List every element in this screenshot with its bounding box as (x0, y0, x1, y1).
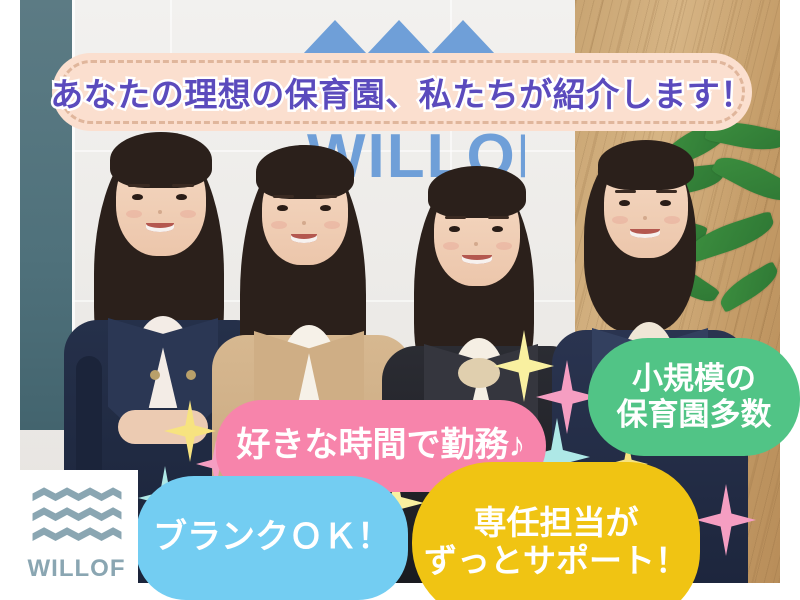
bubble-yellow-line1: 専任担当が (474, 504, 639, 542)
bubble-small-nurseries[interactable]: 小規模の 保育園多数 (588, 338, 800, 456)
willof-wordmark: WILLOF (28, 555, 126, 583)
bubble-pink-text: 好きな時間で勤務♪ (237, 426, 526, 465)
bubble-yellow-line2: ずっとサポート！ (424, 542, 688, 580)
bubble-blue-text: ブランクＯＫ！ (153, 518, 391, 557)
bubble-green-line1: 小規模の (632, 361, 756, 397)
headline-banner: あなたの理想の保育園、私たちが紹介します！ (52, 53, 752, 131)
bubble-dedicated-support[interactable]: 専任担当が ずっとサポート！ (412, 462, 700, 600)
bubble-blank-ok[interactable]: ブランクＯＫ！ (136, 476, 408, 600)
headline-text: あなたの理想の保育園、私たちが紹介します！ (50, 68, 754, 116)
zigzag-wave-icon (31, 487, 123, 549)
willof-logo[interactable]: WILLOF (15, 470, 138, 600)
sparkle-icon (696, 484, 756, 556)
advertisement-banner: WILLOF (0, 0, 800, 600)
bubble-green-line2: 保育園多数 (617, 397, 772, 433)
